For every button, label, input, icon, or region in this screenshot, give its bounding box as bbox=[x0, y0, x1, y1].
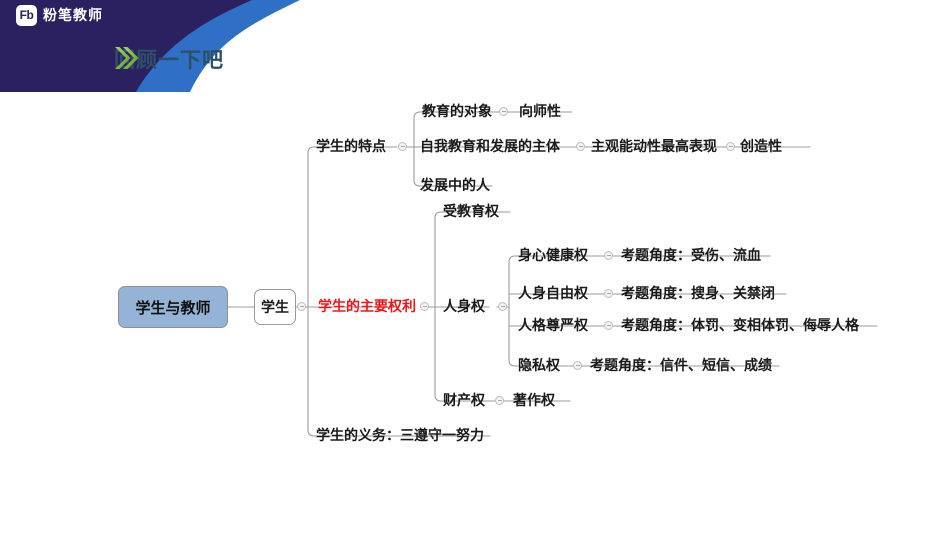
node-xuesheng-yiwu[interactable]: 学生的义务：三遵守一努力 bbox=[316, 428, 484, 442]
node-xuesheng-tedian[interactable]: 学生的特点 bbox=[316, 139, 386, 153]
collapse-toggle-zunyan[interactable] bbox=[604, 321, 613, 330]
collapse-toggle-jiaoyuduixiang[interactable] bbox=[499, 107, 508, 116]
collapse-toggle-renshenquan[interactable] bbox=[498, 302, 507, 311]
node-caichanquan[interactable]: 财产权 bbox=[443, 393, 485, 407]
node-shoujiaoyuquan[interactable]: 受教育权 bbox=[443, 204, 499, 218]
collapse-toggle-student[interactable] bbox=[297, 302, 306, 311]
node-renshen-ziyouquan[interactable]: 人身自由权 bbox=[518, 286, 588, 300]
node-renshenquan[interactable]: 人身权 bbox=[443, 299, 485, 313]
node-shenxin-jiankangquan[interactable]: 身心健康权 bbox=[518, 248, 588, 262]
mindmap-connectors bbox=[0, 0, 950, 535]
node-fazhanzhong-deren[interactable]: 发展中的人 bbox=[420, 178, 490, 192]
collapse-toggle-tedian[interactable] bbox=[398, 142, 407, 151]
node-ziyou-kaoti[interactable]: 考题角度：搜身、关禁闭 bbox=[621, 286, 775, 300]
node-xiangshixing[interactable]: 向师性 bbox=[519, 104, 561, 118]
node-ziwo-jiaoyu[interactable]: 自我教育和发展的主体 bbox=[420, 139, 560, 153]
node-jiaoyu-duixiang[interactable]: 教育的对象 bbox=[422, 104, 492, 118]
collapse-toggle-quanli[interactable] bbox=[420, 302, 429, 311]
collapse-toggle-caichanquan[interactable] bbox=[495, 396, 504, 405]
node-yinsiquan[interactable]: 隐私权 bbox=[518, 358, 560, 372]
collapse-toggle-yinsi[interactable] bbox=[573, 361, 582, 370]
node-renge-zunyanquan[interactable]: 人格尊严权 bbox=[518, 318, 588, 332]
node-zhuyao-quanli[interactable]: 学生的主要权利 bbox=[318, 299, 416, 313]
node-student[interactable]: 学生 bbox=[254, 289, 296, 325]
node-zhuguan-nengdongxing[interactable]: 主观能动性最高表现 bbox=[591, 139, 717, 153]
collapse-toggle-ziyou[interactable] bbox=[604, 289, 613, 298]
node-shenxin-kaoti[interactable]: 考题角度：受伤、流血 bbox=[621, 248, 761, 262]
node-zunyan-kaoti[interactable]: 考题角度：体罚、变相体罚、侮辱人格 bbox=[621, 318, 859, 332]
slide-canvas: Fb 粉笔教师 回顾一下吧 bbox=[0, 0, 950, 535]
node-chuangzaoxing[interactable]: 创造性 bbox=[740, 139, 782, 153]
mindmap: 学生与教师 学生 学生的特点 学生的主要权利 学生的义务：三遵守一努力 教育的对… bbox=[0, 0, 950, 535]
node-zhuzuoquan[interactable]: 著作权 bbox=[513, 393, 555, 407]
collapse-toggle-ziwojiaoyu[interactable] bbox=[576, 142, 585, 151]
node-yinsi-kaoti[interactable]: 考题角度：信件、短信、成绩 bbox=[590, 358, 772, 372]
root-node[interactable]: 学生与教师 bbox=[118, 286, 228, 328]
collapse-toggle-shenxin[interactable] bbox=[604, 251, 613, 260]
collapse-toggle-zhuguan[interactable] bbox=[726, 142, 735, 151]
